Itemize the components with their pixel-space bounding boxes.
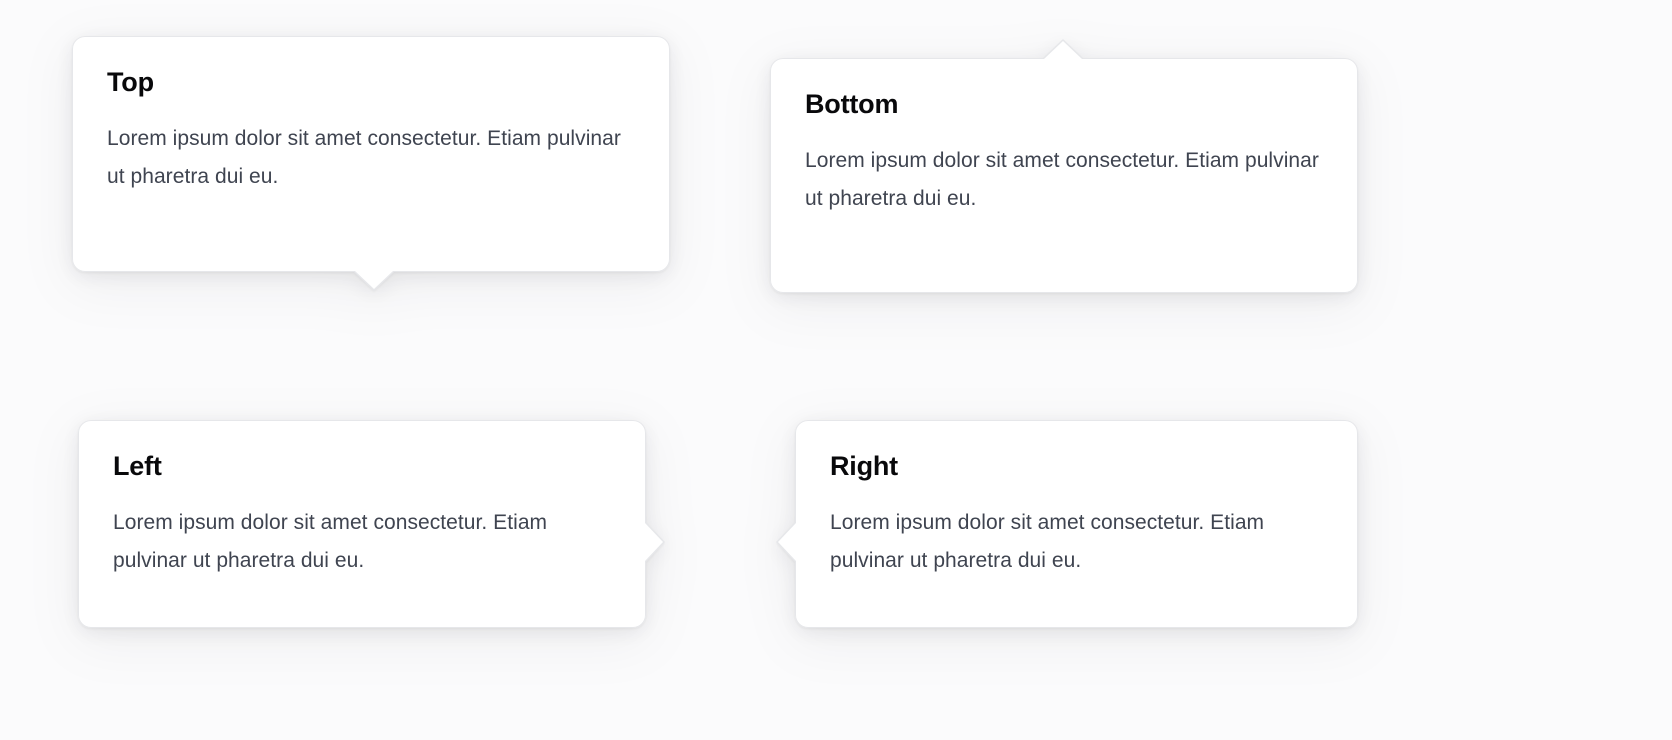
popover-right-title: Right [830, 451, 1323, 482]
popover-right-body: Right Lorem ipsum dolor sit amet consect… [795, 420, 1358, 628]
popover-left-text: Lorem ipsum dolor sit amet consectetur. … [113, 504, 611, 580]
popover-left-body: Left Lorem ipsum dolor sit amet consecte… [78, 420, 646, 628]
popover-right-text: Lorem ipsum dolor sit amet consectetur. … [830, 504, 1323, 580]
popover-bottom-body: Bottom Lorem ipsum dolor sit amet consec… [770, 58, 1358, 293]
popover-top-body: Top Lorem ipsum dolor sit amet consectet… [72, 36, 670, 272]
popover-showcase: Top Lorem ipsum dolor sit amet consectet… [0, 0, 1672, 740]
popover-top-text: Lorem ipsum dolor sit amet consectetur. … [107, 120, 635, 196]
popover-left-title: Left [113, 451, 611, 482]
popover-top-title: Top [107, 67, 635, 98]
popover-bottom[interactable]: Bottom Lorem ipsum dolor sit amet consec… [770, 58, 1358, 293]
popover-bottom-text: Lorem ipsum dolor sit amet consectetur. … [805, 142, 1323, 218]
popover-bottom-title: Bottom [805, 89, 1323, 120]
popover-right[interactable]: Right Lorem ipsum dolor sit amet consect… [795, 420, 1358, 628]
popover-left[interactable]: Left Lorem ipsum dolor sit amet consecte… [78, 420, 646, 628]
popover-top[interactable]: Top Lorem ipsum dolor sit amet consectet… [72, 36, 670, 272]
